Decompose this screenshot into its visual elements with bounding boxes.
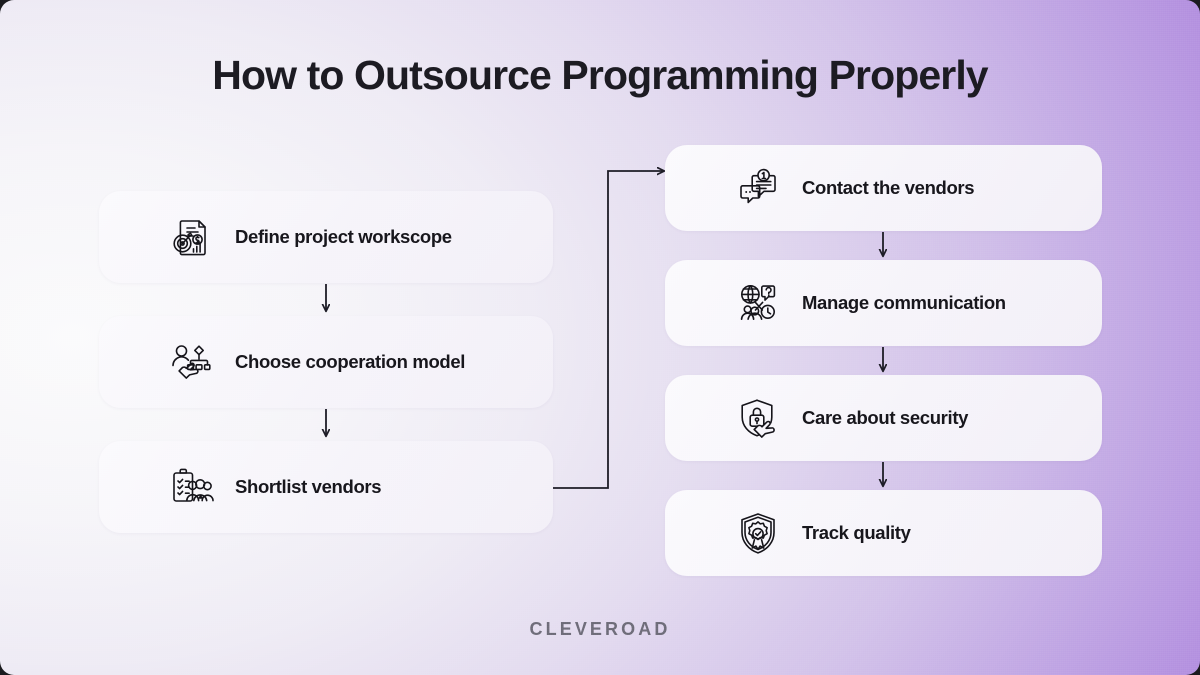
infographic-canvas: How to Outsource Programming Properly	[0, 0, 1200, 675]
step-card-label: Track quality	[802, 522, 911, 544]
document-target-chart-icon	[161, 207, 221, 267]
step-card-label: Define project workscope	[235, 226, 452, 248]
shield-lock-hand-icon	[728, 388, 788, 448]
shield-award-check-icon	[728, 503, 788, 563]
step-card-define-project-workscope[interactable]: Define project workscope	[99, 191, 553, 283]
step-card-shortlist-vendors[interactable]: Shortlist vendors	[99, 441, 553, 533]
step-card-label: Manage communication	[802, 292, 1006, 314]
step-card-manage-communication[interactable]: Manage communication	[665, 260, 1102, 346]
chat-bubbles-notification-icon	[728, 158, 788, 218]
step-card-track-quality[interactable]: Track quality	[665, 490, 1102, 576]
step-card-label: Choose cooperation model	[235, 351, 465, 373]
page-title: How to Outsource Programming Properly	[0, 52, 1200, 99]
step-card-label: Shortlist vendors	[235, 476, 381, 498]
step-card-contact-the-vendors[interactable]: Contact the vendors	[665, 145, 1102, 231]
step-card-choose-cooperation-model[interactable]: Choose cooperation model	[99, 316, 553, 408]
globe-question-clock-people-icon	[728, 273, 788, 333]
arrow-shortlist-to-contact	[553, 171, 664, 488]
step-card-label: Contact the vendors	[802, 177, 974, 199]
brand-logo-cleveroad: CLEVEROAD	[0, 619, 1200, 640]
person-hierarchy-hand-icon	[161, 332, 221, 392]
clipboard-people-icon	[161, 457, 221, 517]
step-card-label: Care about security	[802, 407, 968, 429]
step-card-care-about-security[interactable]: Care about security	[665, 375, 1102, 461]
